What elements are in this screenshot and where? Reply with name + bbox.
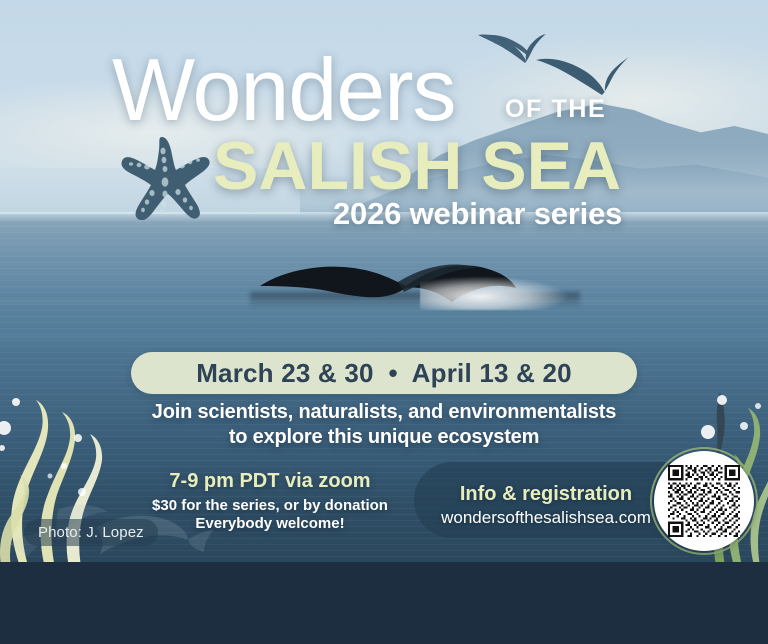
seagull-icon bbox=[486, 32, 546, 56]
dates-banner: March 23 & 30 • April 13 & 20 bbox=[131, 352, 637, 394]
tagline-line-1: Join scientists, naturalists, and enviro… bbox=[0, 400, 768, 425]
photo-credit: Photo: J. Lopez bbox=[24, 519, 158, 546]
footer-bar: Georgia Strait Alliance Hosted on the tr… bbox=[0, 562, 768, 644]
qr-code-badge[interactable] bbox=[654, 451, 754, 551]
registration-url-link[interactable]: wondersofthesalishsea.com bbox=[424, 508, 668, 528]
seagull-icon bbox=[534, 52, 630, 96]
poster-root: Wonders OF THE SALISH SEA 2026 webinar s… bbox=[0, 0, 768, 644]
whale-splash-spray bbox=[420, 276, 570, 310]
tagline: Join scientists, naturalists, and enviro… bbox=[0, 400, 768, 450]
registration-title: Info & registration bbox=[430, 483, 662, 505]
starfish-icon bbox=[116, 134, 212, 220]
headline-salish-sea: SALISH SEA bbox=[213, 132, 621, 200]
headline-wonders: Wonders bbox=[112, 46, 456, 134]
qr-code-icon[interactable] bbox=[668, 465, 740, 537]
tagline-line-2: to explore this unique ecosystem bbox=[0, 425, 768, 450]
dates-text: March 23 & 30 • April 13 & 20 bbox=[196, 358, 572, 389]
headline-subtitle: 2026 webinar series bbox=[333, 198, 622, 229]
headline-of-the: OF THE bbox=[505, 97, 606, 122]
